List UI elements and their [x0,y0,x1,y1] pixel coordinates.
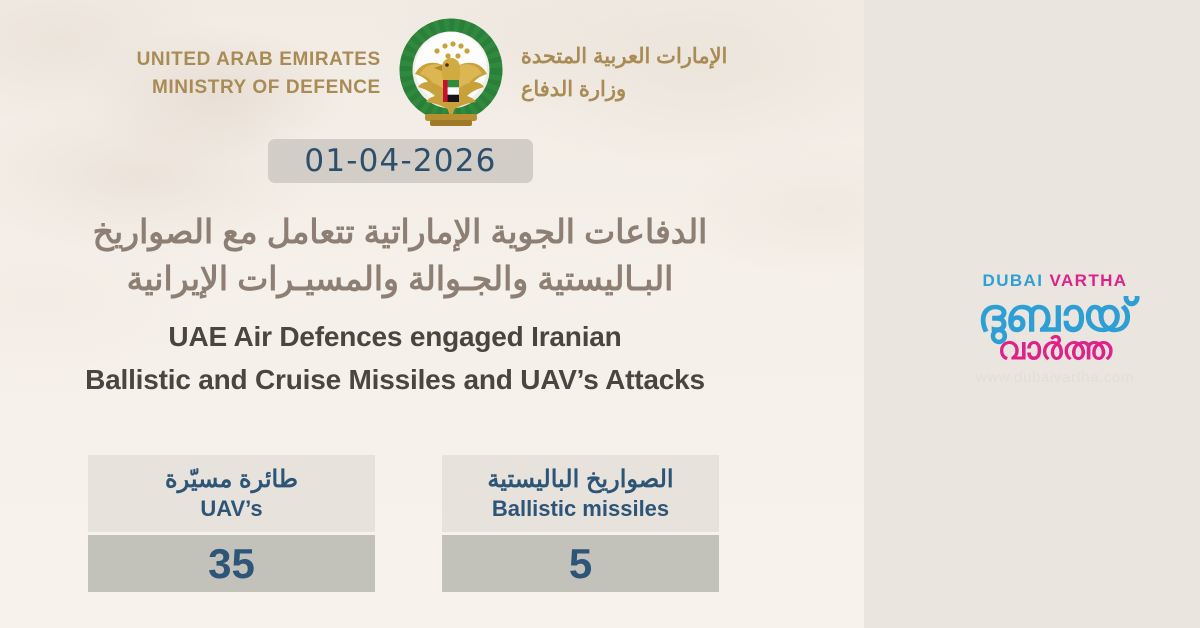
stat-card-uav: طائرة مسيّرة UAV’s 35 [88,455,375,592]
uae-armed-forces-emblem-icon [395,18,507,130]
ministry-name-english-line1: UNITED ARAB EMIRATES [137,46,381,75]
headline-english-line2: Ballistic and Cruise Missiles and UAV’s … [0,359,790,402]
ministry-name-english-line2: MINISTRY OF DEFENCE [137,74,381,103]
ministry-name-arabic-line2: وزارة الدفاع [521,74,728,107]
ministry-name-english: UNITED ARAB EMIRATES MINISTRY OF DEFENCE [137,46,381,103]
stat-card-uav-header: طائرة مسيّرة UAV’s [88,455,375,532]
headline-arabic-line1: الدفاعات الجوية الإماراتية تتعامل مع الص… [0,209,800,256]
headline-arabic-line2: البـاليستية والجـوالة والمسيـرات الإيران… [0,256,800,303]
date-badge: 01-04-2026 [268,139,533,183]
stat-card-ballistic-missiles-label-english: Ballistic missiles [492,496,669,521]
stat-card-uav-label-arabic: طائرة مسيّرة [165,466,298,494]
stat-card-uav-value: 35 [88,535,375,592]
stat-card-uav-label-english: UAV’s [200,496,262,521]
headline-arabic: الدفاعات الجوية الإماراتية تتعامل مع الص… [0,209,800,303]
headline-english-line1: UAE Air Defences engaged Iranian [0,316,790,359]
dubai-vartha-logo-vartha: VARTHA [1049,271,1127,290]
headline-english: UAE Air Defences engaged Iranian Ballist… [0,316,790,401]
ministry-name-arabic: الإمارات العربية المتحدة وزارة الدفاع [521,41,728,106]
dubai-vartha-logo-malayalam-line2: വാർത്ത [930,333,1180,366]
dubai-vartha-logo-url: www.dubaivartha.com [930,369,1180,386]
stat-card-ballistic-missiles-value: 5 [442,535,719,592]
dubai-vartha-logo[interactable]: DUBAI VARTHA ദുബായ് വാർത്ത www.dubaivart… [930,272,1180,386]
stat-card-ballistic-missiles: الصواريخ الباليستية Ballistic missiles 5 [442,455,719,592]
stat-card-ballistic-missiles-label-arabic: الصواريخ الباليستية [487,466,673,494]
dubai-vartha-logo-wordmark: DUBAI VARTHA [930,272,1180,289]
stat-card-ballistic-missiles-header: الصواريخ الباليستية Ballistic missiles [442,455,719,532]
ministry-name-arabic-line1: الإمارات العربية المتحدة [521,41,728,74]
ministry-header: UNITED ARAB EMIRATES MINISTRY OF DEFENCE [0,18,864,130]
date-badge-value: 01-04-2026 [304,143,496,179]
poster-canvas: UNITED ARAB EMIRATES MINISTRY OF DEFENCE [0,0,1200,628]
dubai-vartha-logo-dubai: DUBAI [983,271,1044,290]
